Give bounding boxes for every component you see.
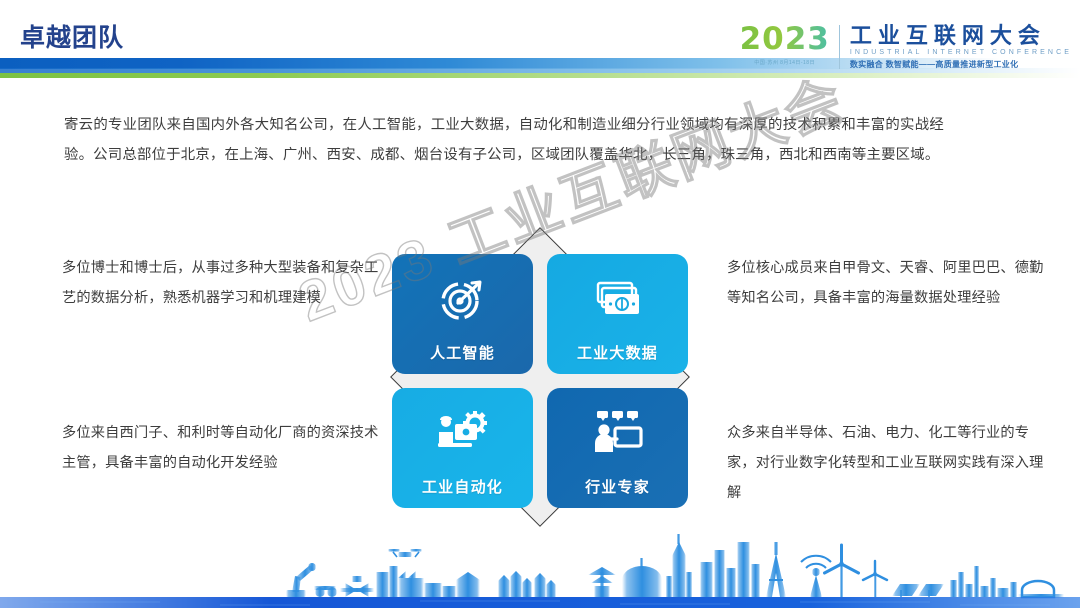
engineer-gear-icon	[434, 407, 492, 459]
conference-logo: 2023 中国·苏州 8月14日-18日 工业互联网大会 INDUSTRIAL …	[740, 24, 1072, 82]
logo-name-en: INDUSTRIAL INTERNET CONFERENCE	[850, 49, 1072, 56]
tile-expert[interactable]: 行业专家	[547, 388, 688, 508]
logo-year-subtitle: 中国·苏州 8月14日-18日	[754, 60, 815, 67]
water-band	[0, 597, 1080, 608]
note-bottom-left: 多位来自西门子、和利时等自动化厂商的资深技术主管，具备丰富的自动化开发经验	[62, 418, 392, 478]
logo-slogan: 数实融合 数智赋能——高质量推进新型工业化	[850, 59, 1072, 70]
logo-name-cn: 工业互联网大会	[850, 24, 1072, 47]
note-top-right: 多位核心成员来自甲骨文、天睿、阿里巴巴、德勤等知名公司，具备丰富的海量数据处理经…	[727, 253, 1047, 313]
logo-year: 2023	[740, 24, 830, 55]
skyline-silhouette	[286, 534, 1064, 598]
tile-automation[interactable]: 工业自动化	[392, 388, 533, 508]
presenter-board-icon	[589, 407, 647, 459]
slide-canvas: 卓越团队 2023 中国·苏州 8月14日-18日 工业互联网大会 INDUST…	[0, 0, 1080, 608]
tile-label-automation: 工业自动化	[422, 476, 503, 497]
water-ripples	[40, 601, 1050, 605]
page-title: 卓越团队	[20, 18, 124, 54]
banknotes-dollar-icon	[589, 273, 647, 325]
tile-label-expert: 行业专家	[585, 476, 650, 497]
target-arrow-icon	[434, 273, 492, 325]
tile-label-ai: 人工智能	[430, 342, 495, 363]
capability-diagram: 人工智能 工业大数据	[392, 212, 688, 542]
logo-text-block: 工业互联网大会 INDUSTRIAL INTERNET CONFERENCE 数…	[840, 24, 1072, 70]
tile-label-bigdata: 工业大数据	[577, 342, 658, 363]
capability-tile-grid: 人工智能 工业大数据	[392, 254, 688, 502]
note-top-left: 多位博士和博士后，从事过多种大型装备和复杂工艺的数据分析，熟悉机器学习和机理建模	[62, 253, 392, 313]
tile-ai[interactable]: 人工智能	[392, 254, 533, 374]
note-bottom-right: 众多来自半导体、石油、电力、化工等行业的专家，对行业数字化转型和工业互联网实践有…	[727, 418, 1057, 508]
intro-paragraph: 寄云的专业团队来自国内外各大知名公司，在人工智能，工业大数据，自动化和制造业细分…	[64, 110, 944, 170]
logo-year-block: 2023 中国·苏州 8月14日-18日	[740, 24, 839, 66]
tile-bigdata[interactable]: 工业大数据	[547, 254, 688, 374]
